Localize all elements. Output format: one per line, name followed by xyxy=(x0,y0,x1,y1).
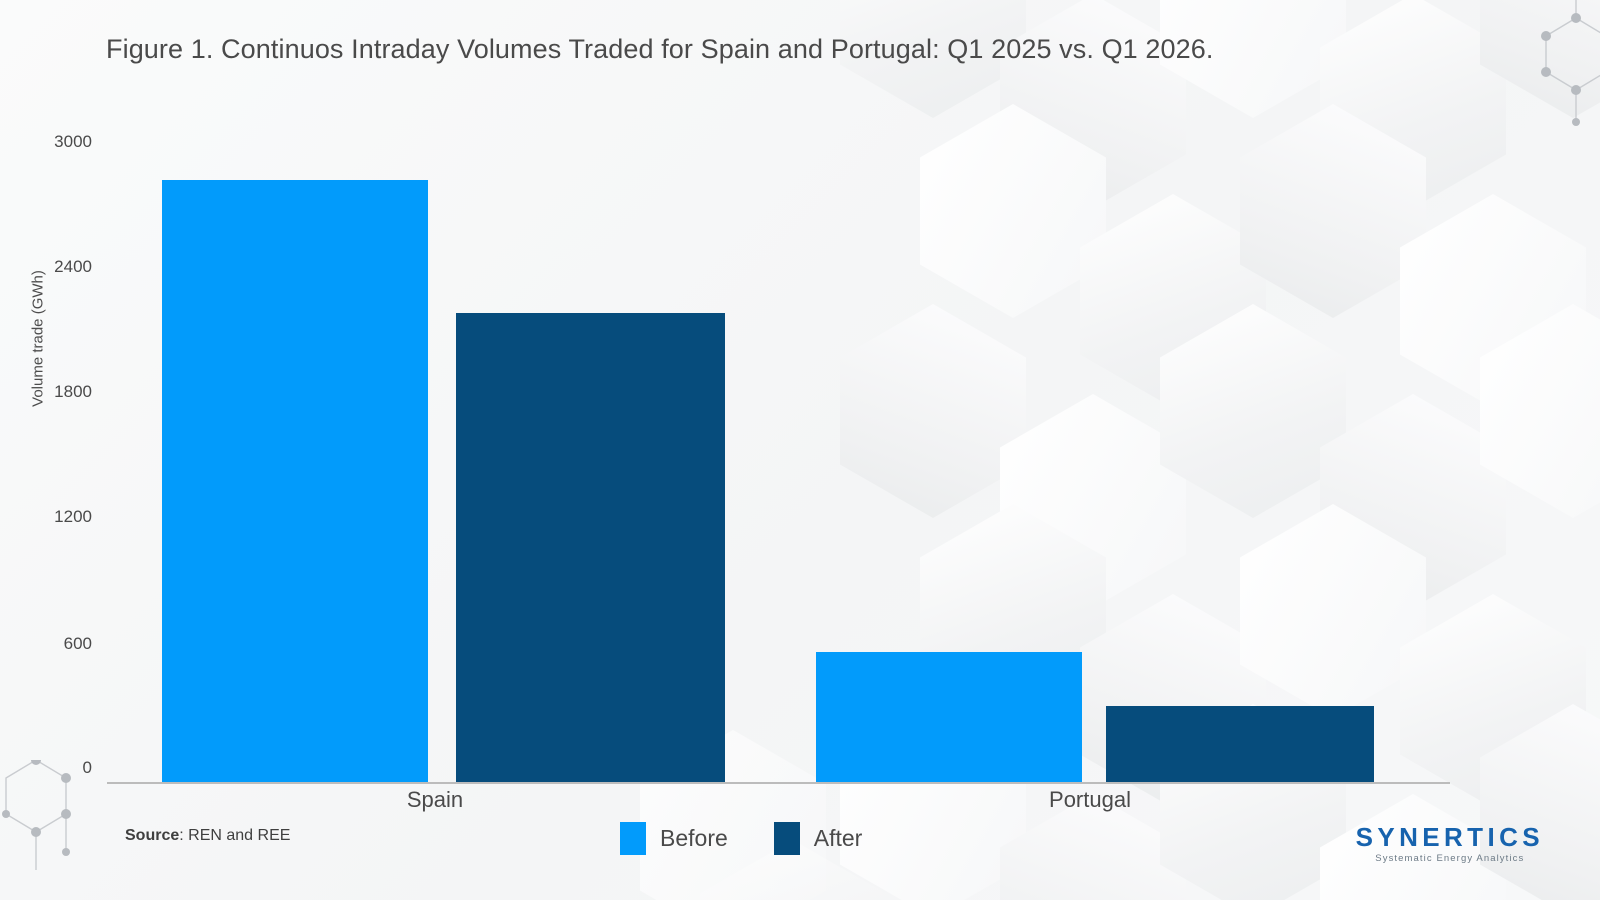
y-tick-600: 600 xyxy=(12,634,92,654)
bar-portugal-before[interactable] xyxy=(816,652,1082,782)
bar-spain-before[interactable] xyxy=(162,180,428,782)
synertics-logo: SYNERTICS Systematic Energy Analytics xyxy=(1356,824,1544,864)
logo-wordmark: SYNERTICS xyxy=(1356,824,1544,850)
bar-portugal-after[interactable] xyxy=(1106,706,1374,782)
y-tick-1200: 1200 xyxy=(12,507,92,527)
legend-item-before[interactable]: Before xyxy=(620,822,728,855)
y-tick-3000: 3000 xyxy=(12,132,92,152)
logo-tagline: Systematic Energy Analytics xyxy=(1356,854,1544,864)
y-tick-1800: 1800 xyxy=(12,382,92,402)
plot-area: Volume trade (GWh) 3000 2400 1800 1200 6… xyxy=(0,0,1600,900)
x-axis-label-portugal: Portugal xyxy=(980,787,1200,813)
legend-item-after[interactable]: After xyxy=(774,822,863,855)
chart-canvas: Figure 1. Continuos Intraday Volumes Tra… xyxy=(0,0,1600,900)
y-tick-2400: 2400 xyxy=(12,257,92,277)
y-tick-0: 0 xyxy=(12,758,92,778)
chart-legend: Before After xyxy=(620,822,862,855)
source-label: Source xyxy=(125,827,179,844)
x-axis-label-spain: Spain xyxy=(325,787,545,813)
x-axis-line xyxy=(107,782,1450,784)
legend-swatch-before-icon xyxy=(620,822,646,855)
bar-spain-after[interactable] xyxy=(456,313,725,782)
legend-label-before: Before xyxy=(660,825,728,852)
legend-label-after: After xyxy=(814,825,863,852)
source-note: Source: REN and REE xyxy=(125,827,290,845)
legend-swatch-after-icon xyxy=(774,822,800,855)
source-value: : REN and REE xyxy=(179,827,290,844)
